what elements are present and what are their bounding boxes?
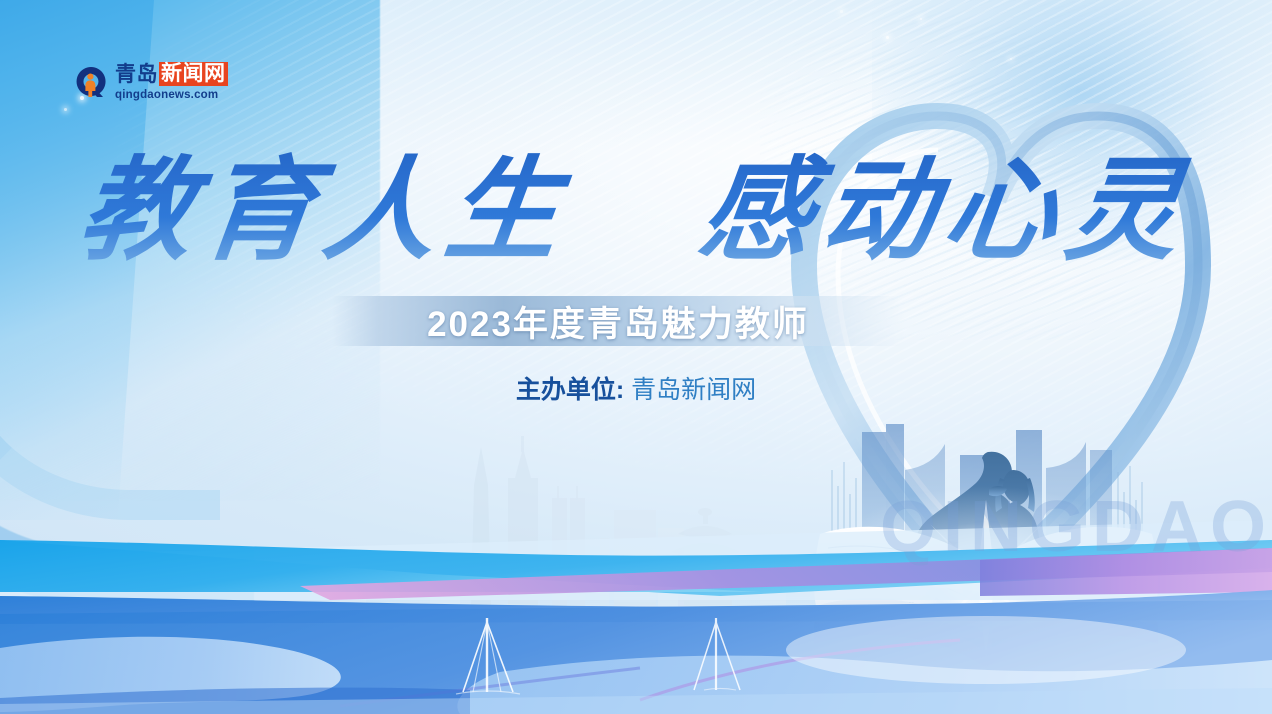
bottom-artwork — [0, 0, 1272, 714]
subtitle-text: 2023年度青岛魅力教师 — [427, 296, 809, 347]
headline-part-2: 感动心灵 — [693, 145, 1197, 276]
organizer-value: 青岛新闻网 — [631, 376, 756, 404]
qingdao-watermark: QINGDAO — [880, 486, 1272, 568]
subtitle-banner: 2023年度青岛魅力教师 — [332, 296, 904, 346]
logo-wordmark: 青岛 新闻网 qingdaonews.com — [115, 62, 228, 102]
logo-text-qingdao: 青岛 — [115, 64, 158, 85]
organizer-line: 主办单位: 青岛新闻网 — [0, 370, 1272, 406]
q-circle-person-icon — [74, 65, 108, 99]
headline-part-1: 教育人生 — [73, 145, 577, 276]
logo-url: qingdaonews.com — [115, 90, 228, 102]
poster-canvas: QINGDAO 青岛 新闻网 qingdaonews.com 教育人生 感动心灵… — [0, 0, 1272, 714]
page-title: 教育人生 感动心灵 — [0, 120, 1272, 282]
logo-text-news: 新闻网 — [159, 62, 228, 86]
qingdaonews-logo[interactable]: 青岛 新闻网 qingdaonews.com — [74, 62, 228, 102]
organizer-label: 主办单位: — [516, 376, 624, 404]
